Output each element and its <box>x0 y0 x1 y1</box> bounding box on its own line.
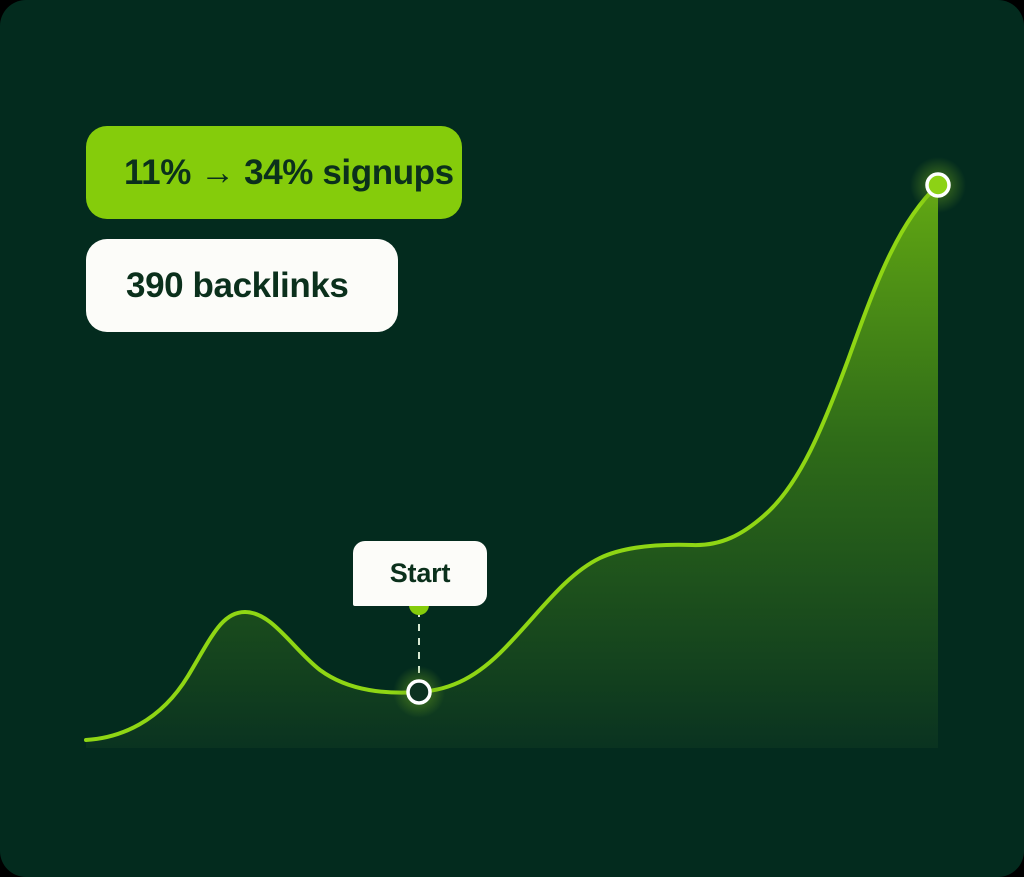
badge-backlinks[interactable]: 390 backlinks <box>86 239 398 332</box>
badge-signups[interactable]: 11% → 34% signups <box>86 126 462 219</box>
start-tooltip[interactable]: Start <box>353 541 487 606</box>
start-tooltip-label: Start <box>390 560 451 587</box>
chart-panel: 11% → 34% signups 390 backlinks Start <box>0 0 1024 877</box>
badge-signups-label: 11% → 34% signups <box>124 155 454 190</box>
badge-backlinks-label: 390 backlinks <box>126 268 348 303</box>
start-point-marker[interactable] <box>408 681 430 703</box>
end-point-marker[interactable] <box>927 174 949 196</box>
